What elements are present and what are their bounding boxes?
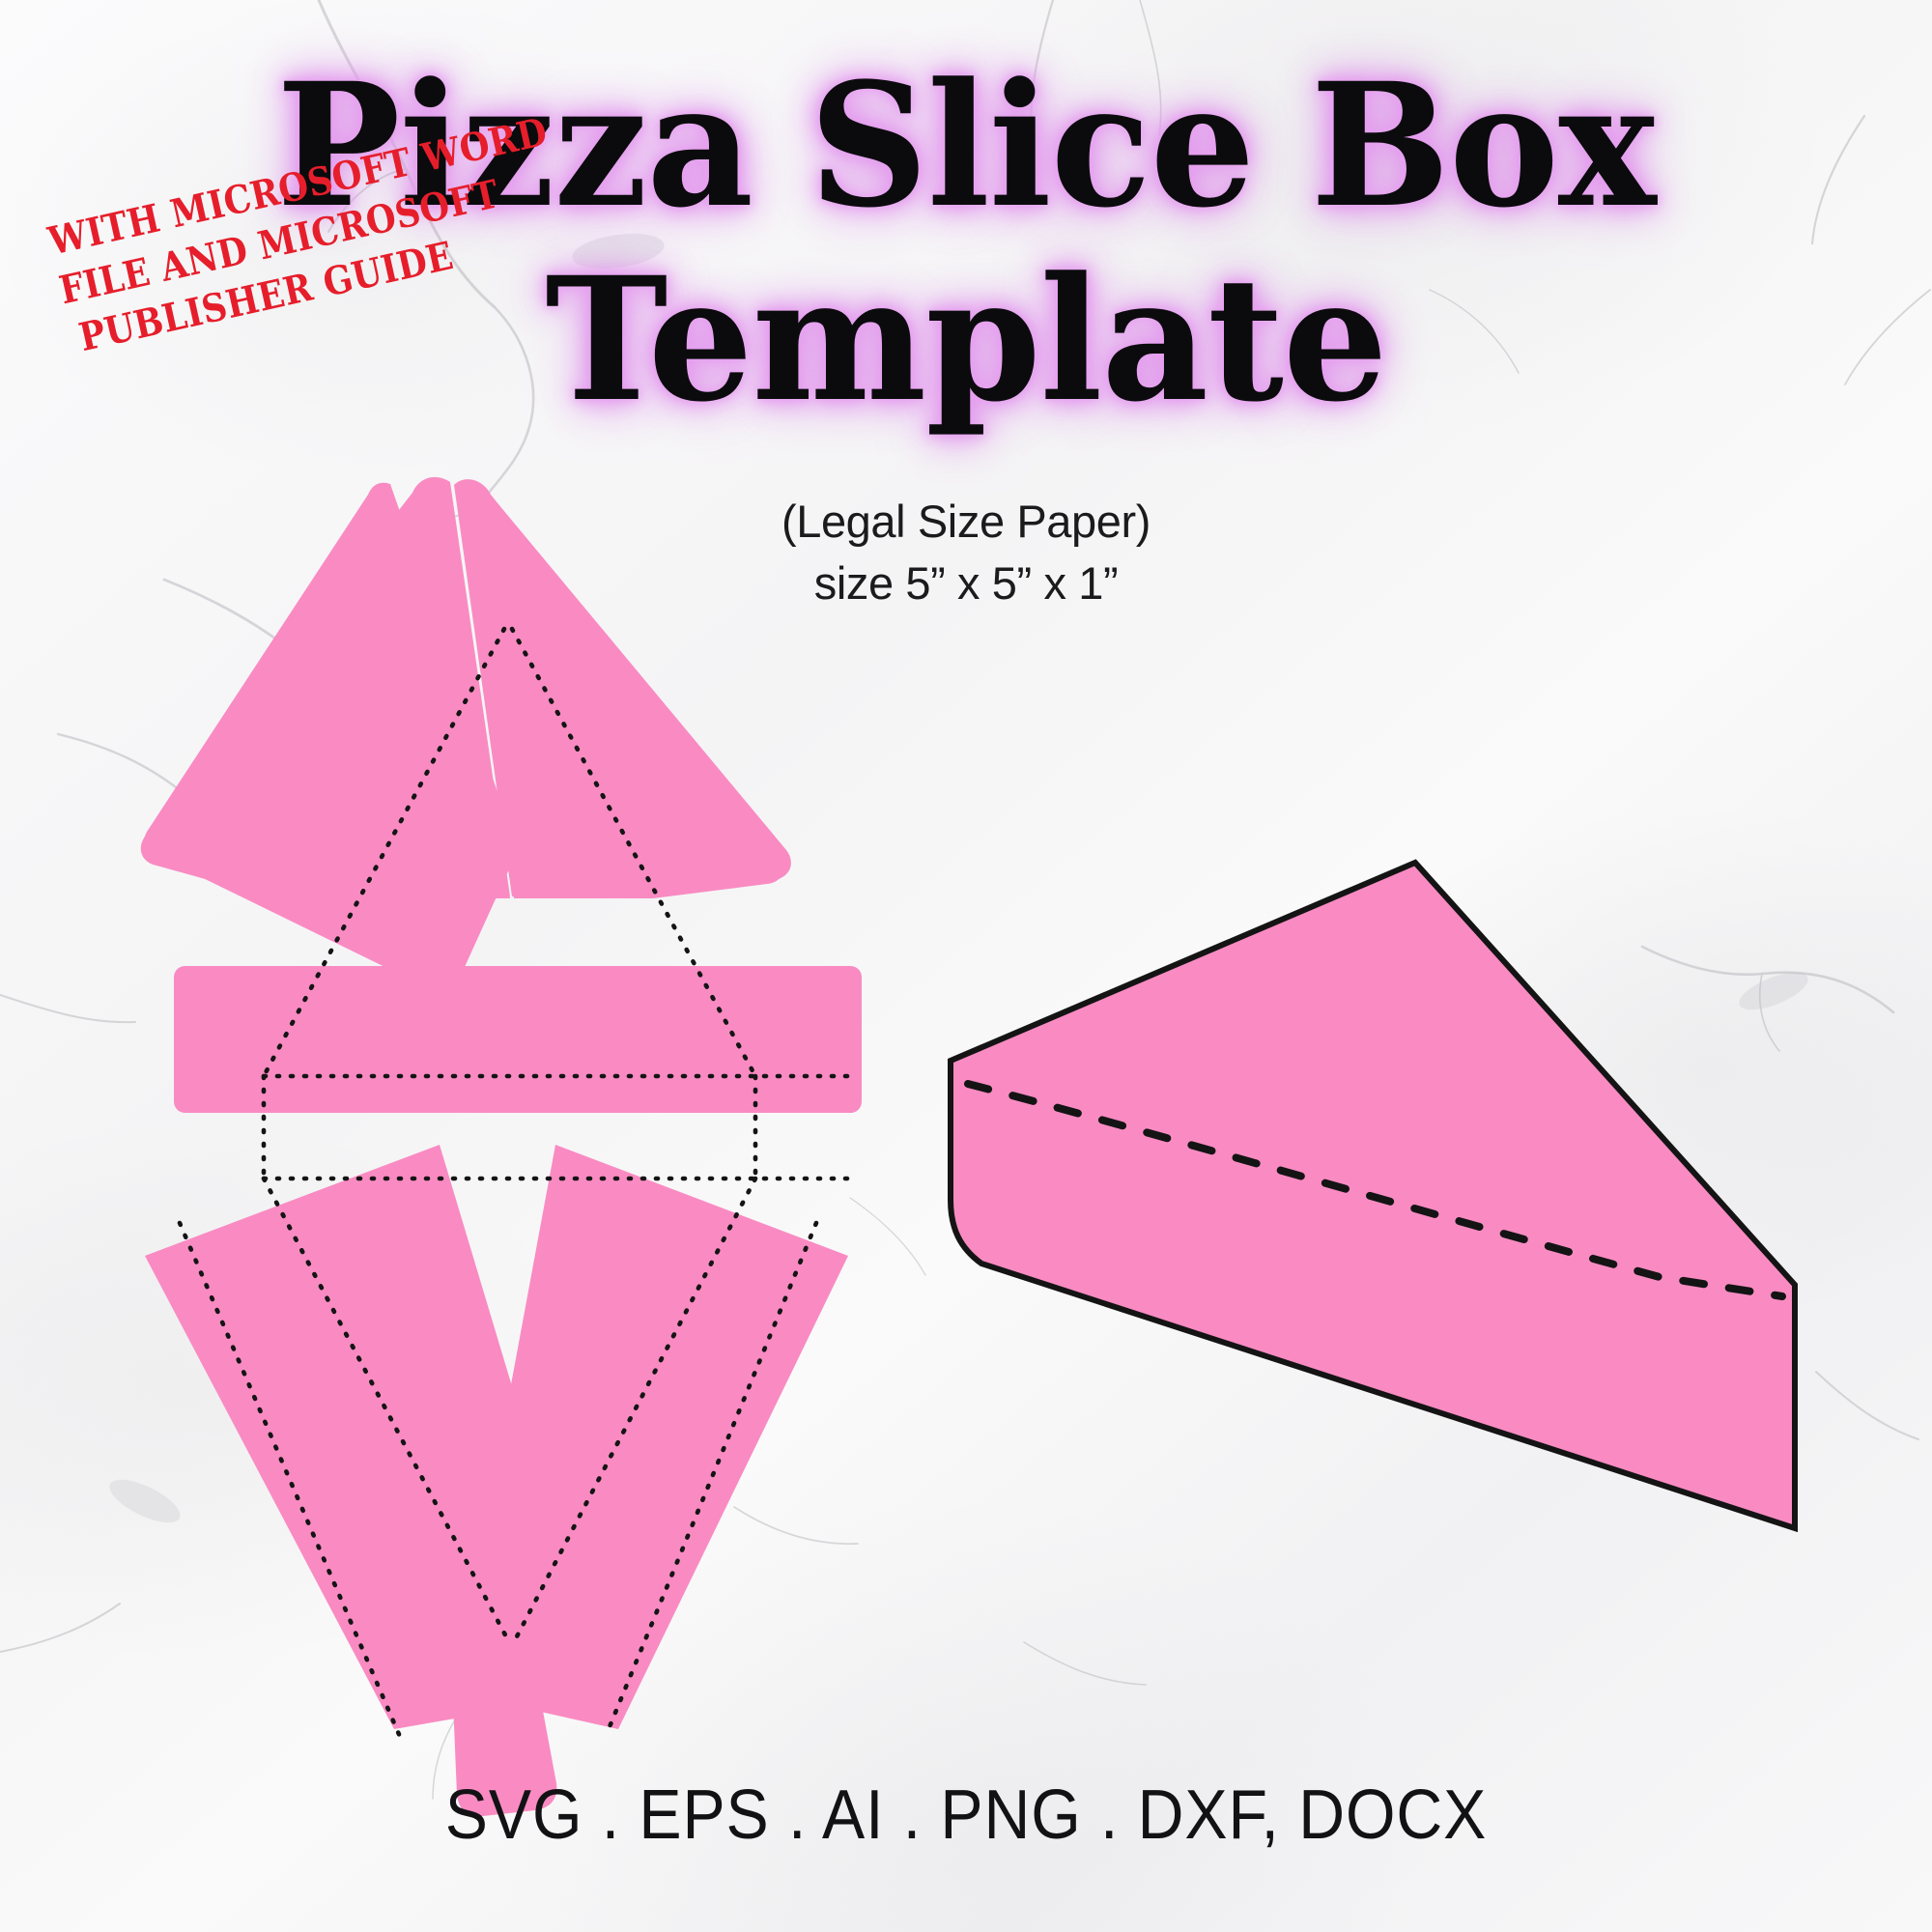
dieline-mid-band — [174, 966, 862, 1113]
artwork-layer — [0, 0, 1932, 1932]
poster-canvas: Pizza Slice Box Template (Legal Size Pap… — [0, 0, 1932, 1932]
pizza-slice-box-3d-assembled — [951, 863, 1795, 1528]
dieline-panel-top-left — [141, 479, 510, 898]
dieline-panel-top-right — [456, 480, 783, 898]
